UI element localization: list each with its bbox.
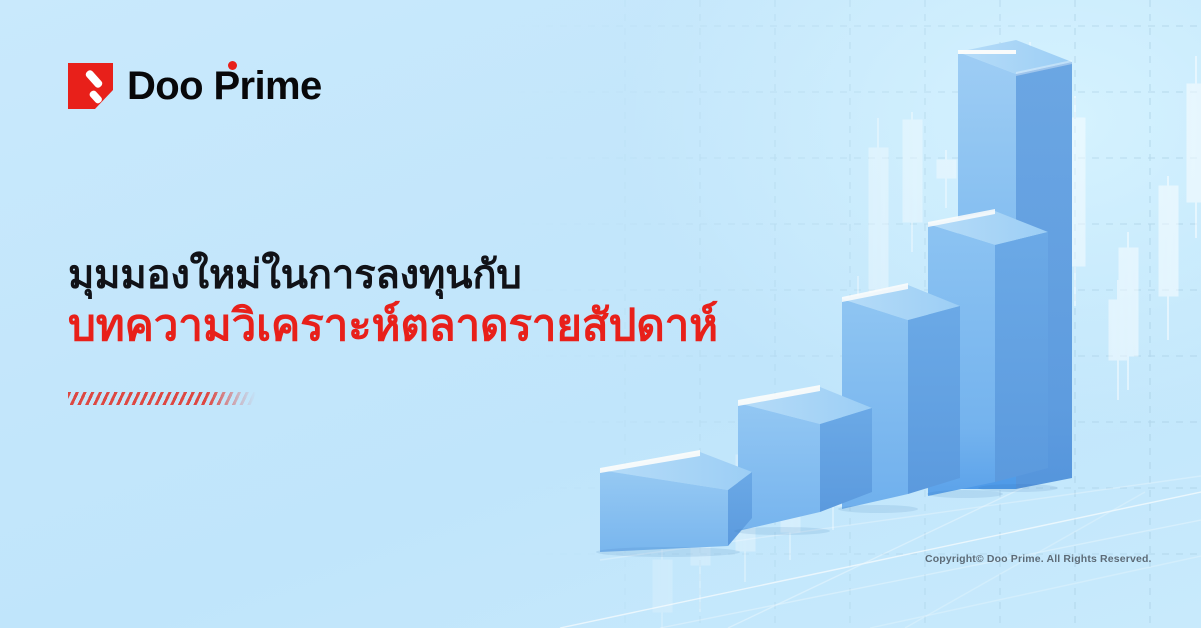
headline-hatch-underline xyxy=(68,392,256,405)
logo-i-dot-icon xyxy=(228,61,237,70)
headline-block: มุมมองใหม่ในการลงทุนกับ บทความวิเคราะห์ต… xyxy=(68,252,828,352)
promo-banner: Doo Prime มุมมองใหม่ในการลงทุนกับ บทความ… xyxy=(0,0,1201,628)
headline-line-2: บทความวิเคราะห์ตลาดรายสัปดาห์ xyxy=(68,300,828,352)
headline-line-1: มุมมองใหม่ในการลงทุนกับ xyxy=(68,252,828,298)
bar-1 xyxy=(600,450,752,552)
copyright-text: Copyright© Doo Prime. All Rights Reserve… xyxy=(925,553,1152,565)
doo-prime-logo-mark-icon xyxy=(68,63,113,109)
brand-logo[interactable]: Doo Prime xyxy=(68,63,322,109)
brand-name: Doo Prime xyxy=(127,66,322,106)
